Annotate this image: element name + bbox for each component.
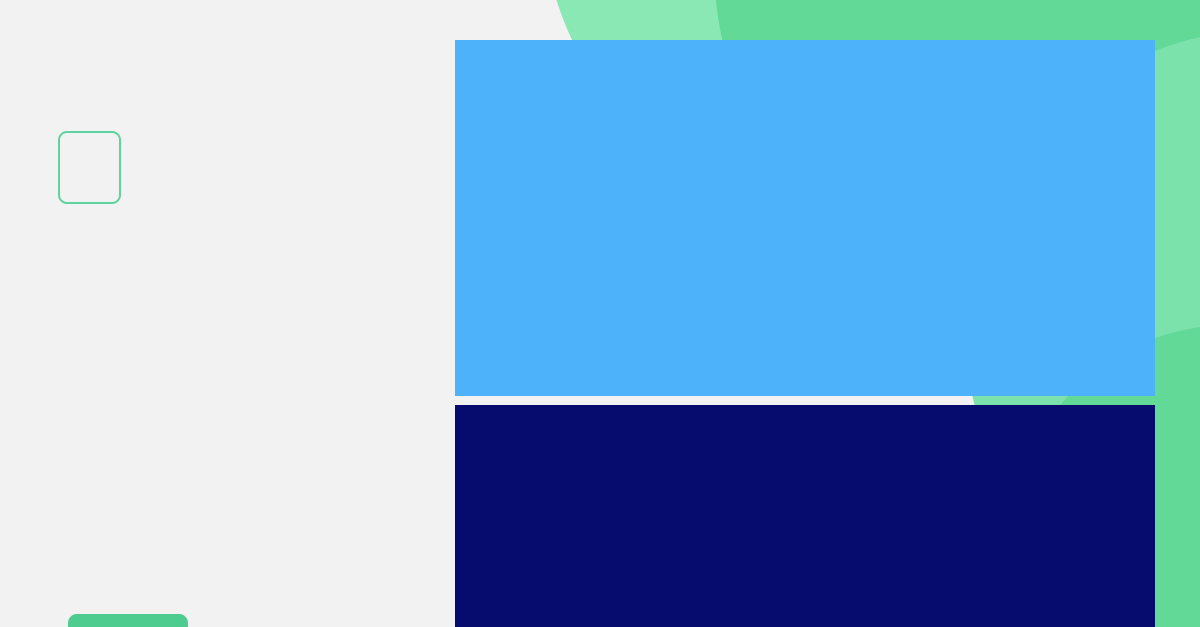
hexagon-preview-top[interactable]	[455, 40, 1155, 396]
format-separator	[58, 542, 70, 563]
hexagon-field-navy	[455, 405, 1155, 627]
poster-canvas	[0, 0, 1200, 627]
info-column	[0, 0, 455, 627]
cta-button[interactable]	[68, 614, 188, 627]
adobe-illustrator-badge	[58, 131, 121, 204]
hexagon-field-cyan	[455, 40, 1155, 396]
hexagon-preview-bottom[interactable]	[455, 405, 1155, 627]
file-formats-value	[58, 541, 70, 565]
